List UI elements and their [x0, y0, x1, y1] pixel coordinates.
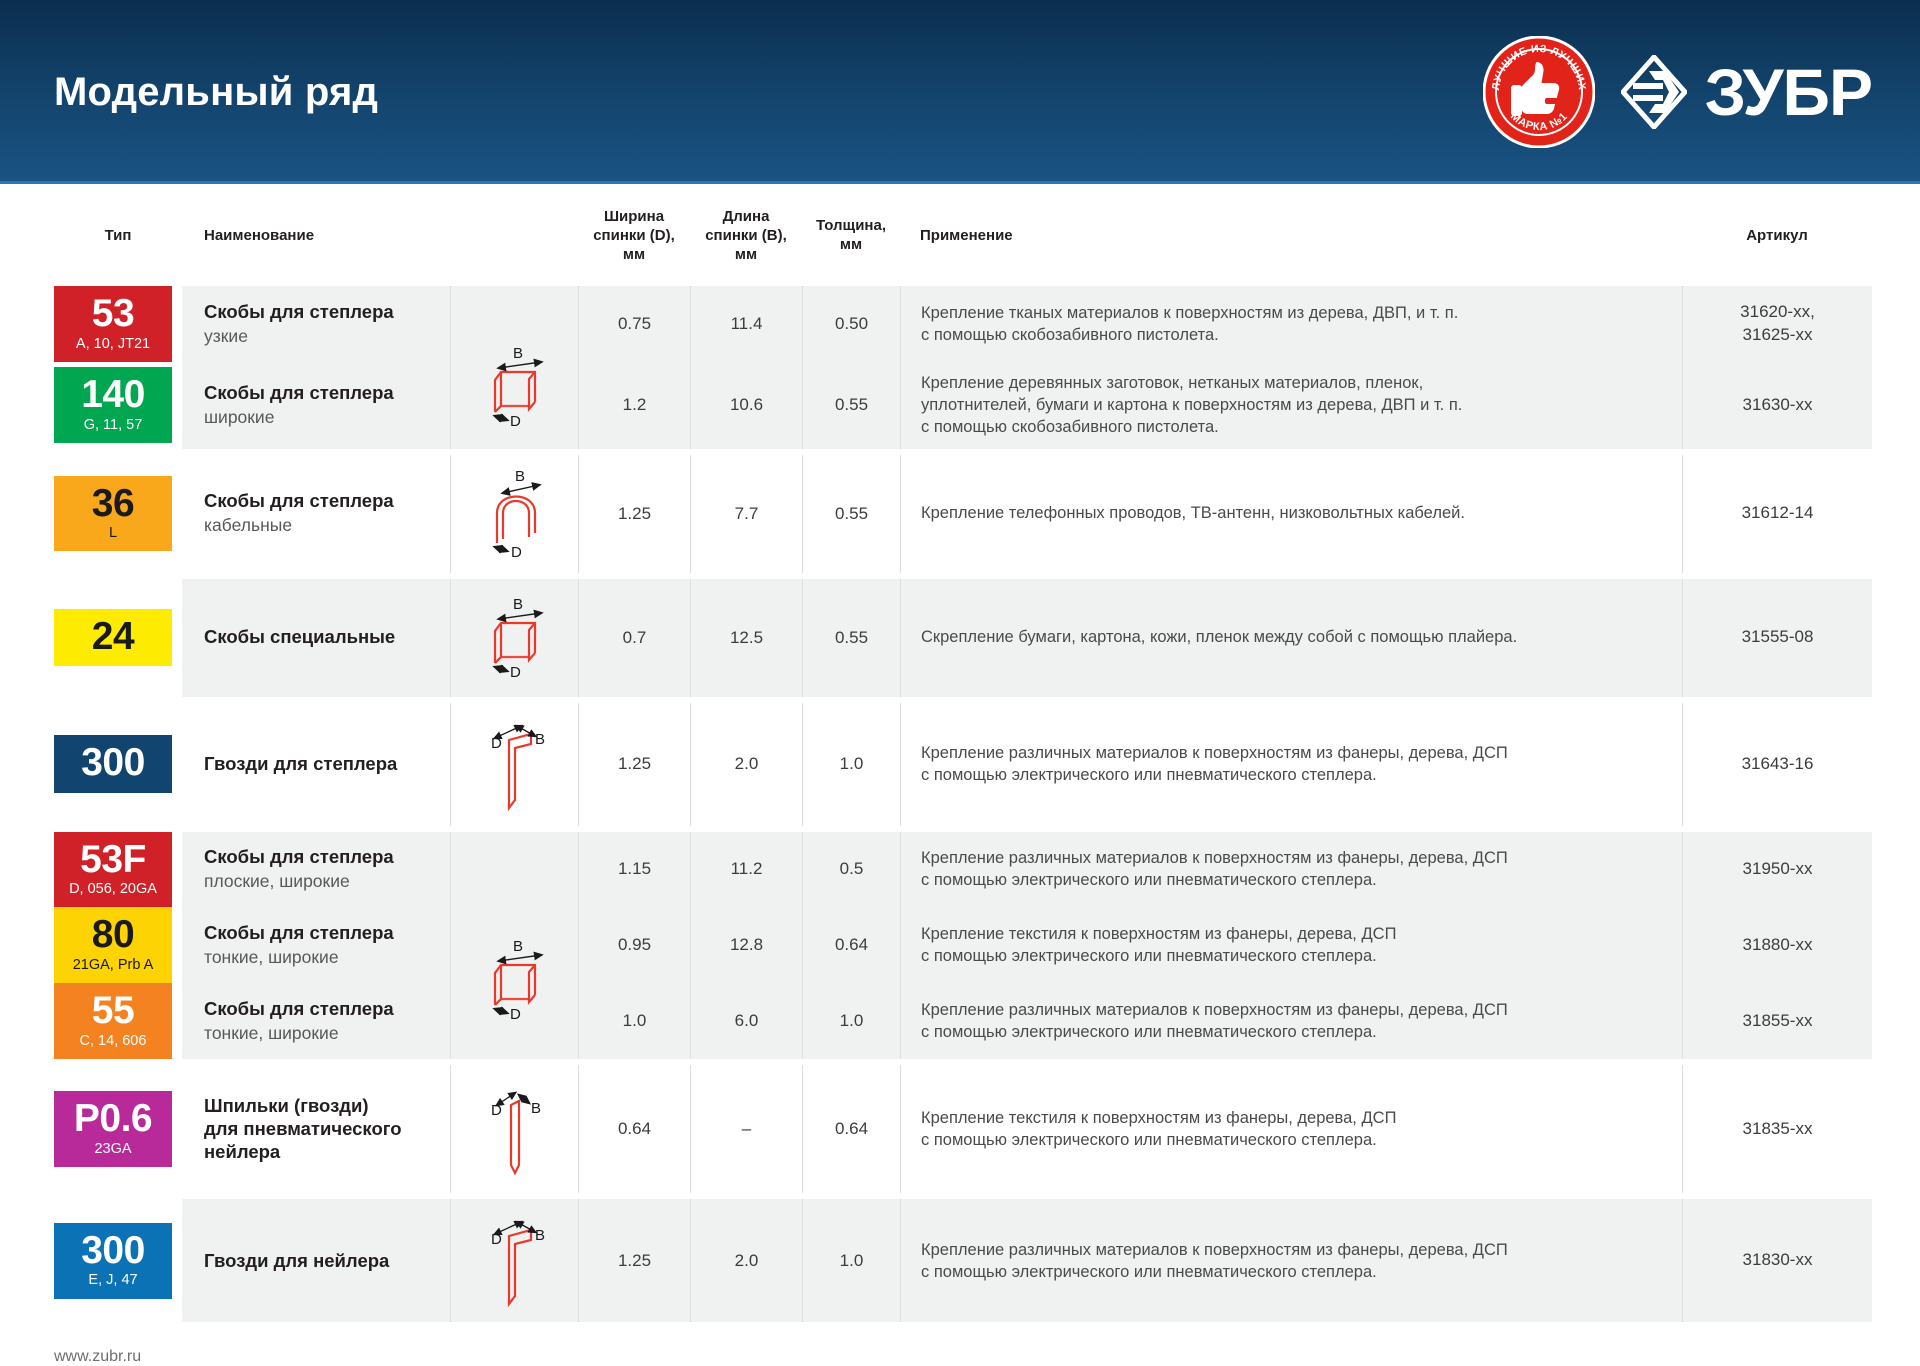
svg-text:B: B	[513, 596, 523, 613]
fastener-diagram: D B	[450, 1065, 578, 1193]
type-badge-code: 36	[54, 484, 172, 525]
thickness-value: 1.0	[802, 983, 900, 1059]
product-name-line: Шпильки (гвозди)	[204, 1095, 436, 1118]
application-line: с помощью электрического или пневматичес…	[921, 1021, 1666, 1043]
type-cell: 300	[54, 703, 182, 826]
article-cell: 31620-хх,31625-хх	[1682, 286, 1872, 362]
svg-text:D: D	[511, 544, 522, 561]
product-name: Скобы для степлера	[204, 998, 436, 1021]
best-of-best-stamp-icon: ЛУЧШИЕ ИЗ ЛУЧШИХ МАРКА №1	[1483, 36, 1595, 148]
length-value: 11.4	[690, 286, 802, 362]
type-badge: 300	[54, 735, 172, 793]
type-badge: 8021GA, Prb A	[54, 907, 172, 983]
article-cell: 31835-хх	[1682, 1065, 1872, 1193]
type-badge: 53FD, 056, 20GA	[54, 832, 172, 908]
width-value: 0.95	[578, 907, 690, 983]
width-value: 1.0	[578, 983, 690, 1059]
application-line: Крепление различных материалов к поверхн…	[921, 1239, 1666, 1261]
product-name-cell: Скобы для степлераплоские, широкие	[182, 832, 450, 908]
thickness-value: 0.5	[802, 832, 900, 908]
product-name-subtitle: кабельные	[204, 515, 436, 537]
application-line: с помощью скобозабивного пистолета.	[921, 324, 1666, 346]
product-name-cell: Скобы для степлератонкие, широкие	[182, 983, 450, 1059]
thickness-value: 0.64	[802, 907, 900, 983]
thickness-value: 0.55	[802, 579, 900, 697]
table-row: 36LСкобы для степлеракабельные B D1.257.…	[54, 455, 1872, 573]
col-header-application: Применение	[900, 184, 1682, 286]
article-number: 31555-08	[1689, 626, 1866, 649]
svg-text:D: D	[491, 735, 502, 752]
length-value: 2.0	[690, 1199, 802, 1322]
type-badge: 36L	[54, 476, 172, 552]
application-cell: Крепление различных материалов к поверхн…	[900, 703, 1682, 826]
application-line: Крепление телефонных проводов, ТВ-антенн…	[921, 502, 1666, 524]
product-name-subtitle: узкие	[204, 326, 436, 348]
article-number: 31880-хх	[1689, 934, 1866, 957]
fastener-diagram: D B	[450, 703, 578, 826]
model-range-table: Тип Наименование Ширина спинки (D), мм Д…	[54, 184, 1872, 1322]
application-line: уплотнителей, бумаги и картона к поверхн…	[921, 394, 1666, 416]
application-cell: Крепление различных материалов к поверхн…	[900, 1199, 1682, 1322]
article-number: 31620-хх,	[1689, 301, 1866, 324]
table-head: Тип Наименование Ширина спинки (D), мм Д…	[54, 184, 1872, 286]
col-header-thickness: Толщина, мм	[802, 184, 900, 286]
fastener-diagram: B D	[450, 832, 578, 1060]
col-header-width-line1: Ширина	[604, 208, 664, 225]
svg-text:D: D	[510, 664, 521, 681]
type-badge-aliases: 21GA, Prb A	[54, 957, 172, 974]
application-line: с помощью электрического или пневматичес…	[921, 1129, 1666, 1151]
product-name-cell: Скобы для степлераширокие	[182, 362, 450, 448]
footer-site-url: www.zubr.ru	[0, 1322, 1920, 1366]
fastener-diagram: B D	[450, 286, 578, 448]
table-row: 140G, 11, 57Скобы для степлераширокие1.2…	[54, 362, 1872, 448]
svg-text:B: B	[513, 938, 523, 955]
product-name-subtitle: плоские, широкие	[204, 871, 436, 893]
article-number: 31830-хх	[1689, 1249, 1866, 1272]
type-badge: P0.623GA	[54, 1091, 172, 1167]
product-name: Скобы для степлера	[204, 301, 436, 324]
svg-text:D: D	[510, 413, 521, 430]
product-name: Гвозди для степлера	[204, 753, 436, 776]
application-cell: Крепление тканых материалов к поверхност…	[900, 286, 1682, 362]
col-header-name: Наименование	[182, 184, 450, 286]
product-name-cell: Скобы для степлератонкие, широкие	[182, 907, 450, 983]
table-row: 53FD, 056, 20GAСкобы для степлераплоские…	[54, 832, 1872, 908]
width-value: 1.2	[578, 362, 690, 448]
product-name-cell: Скобы для степлераузкие	[182, 286, 450, 362]
type-badge-aliases: C, 14, 606	[54, 1033, 172, 1050]
col-header-length-line2: спинки (B), мм	[705, 227, 787, 263]
application-cell: Крепление текстиля к поверхностям из фан…	[900, 1065, 1682, 1193]
application-line: с помощью электрического или пневматичес…	[921, 869, 1666, 891]
length-value: 12.8	[690, 907, 802, 983]
application-line: Крепление различных материалов к поверхн…	[921, 999, 1666, 1021]
product-name-cell: Гвозди для нейлера	[182, 1199, 450, 1322]
type-badge-code: 53F	[54, 840, 172, 881]
product-name: Скобы для степлера	[204, 382, 436, 405]
article-number: 31835-хх	[1689, 1118, 1866, 1141]
length-value: –	[690, 1065, 802, 1193]
length-value: 10.6	[690, 362, 802, 448]
col-header-type: Тип	[54, 184, 182, 286]
svg-text:D: D	[491, 1102, 502, 1119]
product-name-subtitle: тонкие, широкие	[204, 1023, 436, 1045]
article-number: 31950-хх	[1689, 858, 1866, 881]
svg-text:D: D	[510, 1006, 521, 1023]
type-cell: P0.623GA	[54, 1065, 182, 1193]
type-cell: 53A, 10, JT21	[54, 286, 182, 362]
table-row: 53A, 10, JT21Скобы для степлераузкие B D…	[54, 286, 1872, 362]
type-cell: 36L	[54, 455, 182, 573]
page-header: Модельный ряд ЛУЧШИЕ ИЗ ЛУЧШИХ МАРКА №1	[0, 0, 1920, 184]
svg-text:B: B	[531, 1100, 541, 1117]
product-name-line: нейлера	[204, 1141, 436, 1164]
application-line: Крепление различных материалов к поверхн…	[921, 847, 1666, 869]
length-value: 12.5	[690, 579, 802, 697]
product-name: Скобы для степлера	[204, 922, 436, 945]
table-row: 300E, J, 47Гвозди для нейлера D B1.252.0…	[54, 1199, 1872, 1322]
thickness-value: 0.64	[802, 1065, 900, 1193]
type-badge-aliases: D, 056, 20GA	[54, 881, 172, 898]
product-name-cell: Скобы для степлеракабельные	[182, 455, 450, 573]
article-cell: 31630-хх	[1682, 362, 1872, 448]
type-badge-code: 300	[54, 1231, 172, 1272]
product-name: Скобы для степлера	[204, 846, 436, 869]
application-cell: Крепление деревянных заготовок, нетканых…	[900, 362, 1682, 448]
type-cell: 8021GA, Prb A	[54, 907, 182, 983]
page-title: Модельный ряд	[54, 70, 378, 115]
application-line: с помощью электрического или пневматичес…	[921, 945, 1666, 967]
table-body: 53A, 10, JT21Скобы для степлераузкие B D…	[54, 286, 1872, 1322]
width-value: 1.25	[578, 703, 690, 826]
type-cell: 24	[54, 579, 182, 697]
svg-text:D: D	[491, 1231, 502, 1248]
zubr-logo: ЗУБР	[1621, 55, 1872, 129]
thickness-value: 0.55	[802, 362, 900, 448]
zubr-wordmark: ЗУБР	[1705, 59, 1872, 125]
application-cell: Крепление текстиля к поверхностям из фан…	[900, 907, 1682, 983]
application-line: Крепление текстиля к поверхностям из фан…	[921, 1107, 1666, 1129]
type-badge: 140G, 11, 57	[54, 367, 172, 443]
product-name: Гвозди для нейлера	[204, 1250, 436, 1273]
width-value: 0.64	[578, 1065, 690, 1193]
application-line: Скрепление бумаги, картона, кожи, пленок…	[921, 626, 1666, 648]
col-header-thickness-line1: Толщина,	[816, 217, 886, 234]
application-line: Крепление текстиля к поверхностям из фан…	[921, 923, 1666, 945]
application-line: Крепление деревянных заготовок, нетканых…	[921, 372, 1666, 394]
type-cell: 53FD, 056, 20GA	[54, 832, 182, 908]
application-line: с помощью электрического или пневматичес…	[921, 764, 1666, 786]
product-name: Шпильки (гвозди)для пневматическогонейле…	[204, 1095, 436, 1163]
article-cell: 31555-08	[1682, 579, 1872, 697]
type-badge-code: 80	[54, 915, 172, 956]
width-value: 0.7	[578, 579, 690, 697]
type-badge: 300E, J, 47	[54, 1223, 172, 1299]
fastener-diagram: B D	[450, 455, 578, 573]
svg-text:B: B	[535, 1227, 545, 1244]
product-name-subtitle: тонкие, широкие	[204, 947, 436, 969]
article-cell: 31880-хх	[1682, 907, 1872, 983]
application-cell: Скрепление бумаги, картона, кожи, пленок…	[900, 579, 1682, 697]
application-line: с помощью скобозабивного пистолета.	[921, 416, 1666, 438]
article-number: 31855-хх	[1689, 1010, 1866, 1033]
type-cell: 300E, J, 47	[54, 1199, 182, 1322]
type-badge: 53A, 10, JT21	[54, 286, 172, 362]
article-cell: 31950-хх	[1682, 832, 1872, 908]
width-value: 1.15	[578, 832, 690, 908]
table-row: 55C, 14, 606Скобы для степлератонкие, ши…	[54, 983, 1872, 1059]
length-value: 2.0	[690, 703, 802, 826]
fastener-diagram: B D	[450, 579, 578, 697]
application-line: с помощью электрического или пневматичес…	[921, 1261, 1666, 1283]
type-badge-aliases: G, 11, 57	[54, 417, 172, 434]
width-value: 0.75	[578, 286, 690, 362]
length-value: 11.2	[690, 832, 802, 908]
product-name: Скобы для степлера	[204, 490, 436, 513]
article-number: 31643-16	[1689, 753, 1866, 776]
type-cell: 55C, 14, 606	[54, 983, 182, 1059]
zubr-diamond-icon	[1621, 55, 1687, 129]
table-row: P0.623GAШпильки (гвозди)для пневматическ…	[54, 1065, 1872, 1193]
svg-text:B: B	[515, 468, 525, 485]
article-cell: 31612-14	[1682, 455, 1872, 573]
type-badge: 55C, 14, 606	[54, 983, 172, 1059]
col-header-length-line1: Длина	[723, 208, 770, 225]
article-cell: 31855-хх	[1682, 983, 1872, 1059]
type-badge-aliases: A, 10, JT21	[54, 336, 172, 353]
article-number: 31625-хх	[1689, 324, 1866, 347]
table-row: 300Гвозди для степлера D B1.252.01.0Креп…	[54, 703, 1872, 826]
thickness-value: 1.0	[802, 703, 900, 826]
length-value: 6.0	[690, 983, 802, 1059]
thickness-value: 0.50	[802, 286, 900, 362]
length-value: 7.7	[690, 455, 802, 573]
type-badge-code: 24	[54, 617, 172, 658]
width-value: 1.25	[578, 455, 690, 573]
product-name-line: для пневматического	[204, 1118, 436, 1141]
type-badge-code: P0.6	[54, 1099, 172, 1140]
type-badge-code: 55	[54, 991, 172, 1032]
width-value: 1.25	[578, 1199, 690, 1322]
article-number: 31612-14	[1689, 502, 1866, 525]
product-name-cell: Скобы специальные	[182, 579, 450, 697]
product-name: Скобы специальные	[204, 626, 436, 649]
application-cell: Крепление различных материалов к поверхн…	[900, 983, 1682, 1059]
type-badge-aliases: E, J, 47	[54, 1272, 172, 1289]
article-cell: 31830-хх	[1682, 1199, 1872, 1322]
col-header-picture	[450, 184, 578, 286]
type-badge-code: 300	[54, 743, 172, 784]
application-cell: Крепление различных материалов к поверхн…	[900, 832, 1682, 908]
svg-text:B: B	[535, 731, 545, 748]
type-badge-aliases: 23GA	[54, 1141, 172, 1158]
col-header-width: Ширина спинки (D), мм	[578, 184, 690, 286]
fastener-diagram: D B	[450, 1199, 578, 1322]
table-row: 8021GA, Prb AСкобы для степлератонкие, ш…	[54, 907, 1872, 983]
col-header-thickness-line2: мм	[840, 236, 862, 253]
application-line: Крепление различных материалов к поверхн…	[921, 742, 1666, 764]
thickness-value: 1.0	[802, 1199, 900, 1322]
col-header-length: Длина спинки (B), мм	[690, 184, 802, 286]
type-badge-aliases: L	[54, 525, 172, 542]
article-cell: 31643-16	[1682, 703, 1872, 826]
brand-block: ЛУЧШИЕ ИЗ ЛУЧШИХ МАРКА №1	[1483, 36, 1872, 148]
col-header-width-line2: спинки (D), мм	[593, 227, 675, 263]
product-name-cell: Шпильки (гвозди)для пневматическогонейле…	[182, 1065, 450, 1193]
application-cell: Крепление телефонных проводов, ТВ-антенн…	[900, 455, 1682, 573]
type-cell: 140G, 11, 57	[54, 362, 182, 448]
thickness-value: 0.55	[802, 455, 900, 573]
article-number: 31630-хх	[1689, 394, 1866, 417]
type-badge-code: 53	[54, 294, 172, 335]
model-range-sheet: Тип Наименование Ширина спинки (D), мм Д…	[0, 184, 1920, 1322]
application-line: Крепление тканых материалов к поверхност…	[921, 302, 1666, 324]
col-header-article: Артикул	[1682, 184, 1872, 286]
product-name-subtitle: широкие	[204, 407, 436, 429]
type-badge-code: 140	[54, 375, 172, 416]
table-row: 24Скобы специальные B D0.712.50.55Скрепл…	[54, 579, 1872, 697]
type-badge: 24	[54, 609, 172, 667]
product-name-cell: Гвозди для степлера	[182, 703, 450, 826]
svg-text:B: B	[513, 345, 523, 362]
